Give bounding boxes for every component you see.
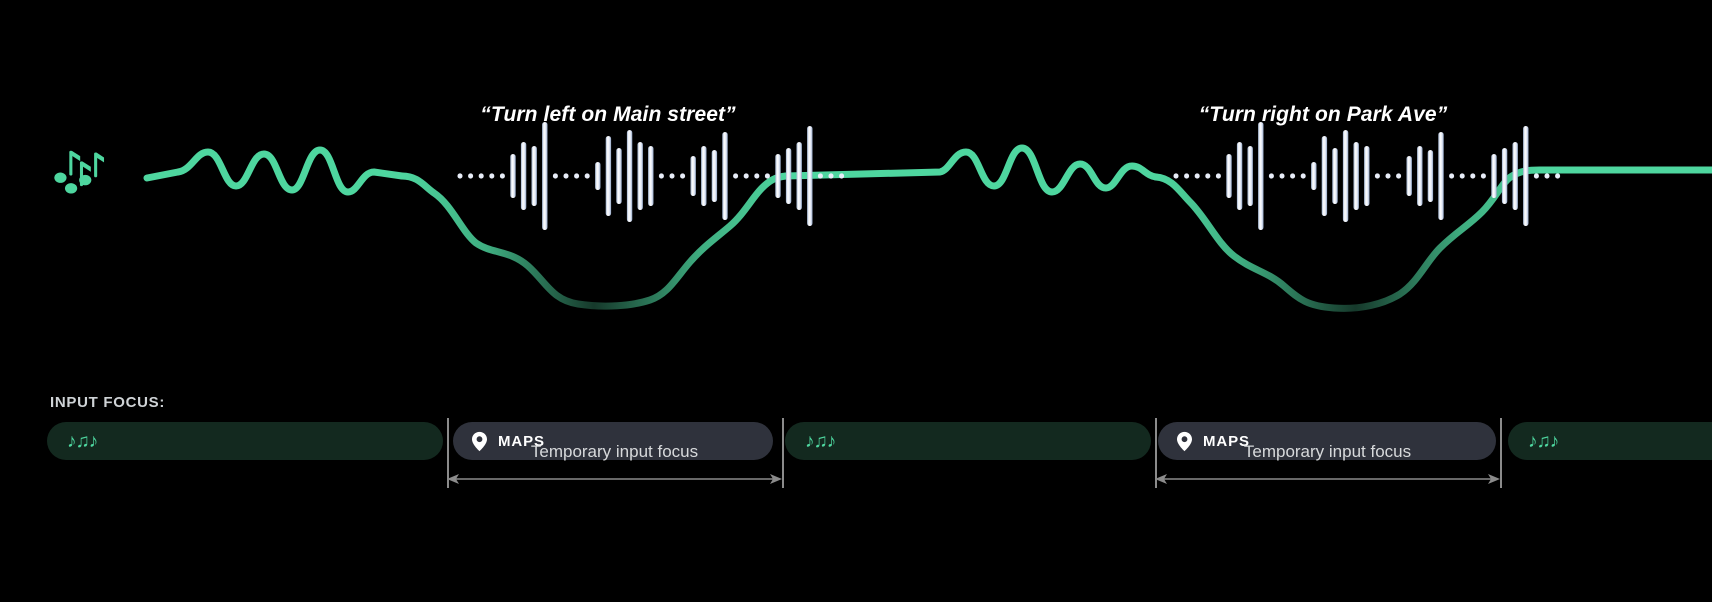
voice-bar [807, 126, 812, 226]
voice-bar-dot [1301, 173, 1306, 178]
music-line-dip-1 [402, 176, 786, 306]
voice-bar [1407, 156, 1412, 196]
focus-span-double-arrow [447, 472, 782, 486]
voice-bar [1248, 146, 1253, 206]
voice-bar [1491, 154, 1496, 198]
voice-bar [786, 148, 791, 204]
voice-bar [627, 130, 632, 222]
voice-bar-dot [818, 173, 823, 178]
voice-bar [1322, 136, 1327, 216]
music-notes-icon [54, 151, 104, 194]
voice-bar [1438, 132, 1443, 220]
input-focus-timeline: INPUT FOCUS: ♪♫♪MAPS♪♫♪MAPS♪♫♪ Temporary… [0, 360, 1712, 602]
signal-visualization: “Turn left on Main street” “Turn right o… [0, 0, 1712, 360]
track-music-3[interactable]: ♪♫♪ [1508, 422, 1712, 460]
voice-bar [1226, 154, 1231, 198]
voice-bar [542, 122, 547, 230]
utterance-caption-right: “Turn right on Park Ave” [0, 103, 1712, 127]
voice-bar [1332, 148, 1337, 204]
voice-bar [1428, 150, 1433, 202]
focus-boundary-divider [1500, 418, 1502, 488]
voice-bar-dot [479, 173, 484, 178]
voice-bar-group [458, 122, 1561, 230]
voice-bar-dot [680, 173, 685, 178]
voice-bar-dot [1290, 173, 1295, 178]
voice-bar-dot [1174, 173, 1179, 178]
focus-boundary-divider [782, 418, 784, 488]
voice-bar-dot [1269, 173, 1274, 178]
voice-bar-dot [1470, 173, 1475, 178]
music-line-segment-1 [147, 150, 402, 192]
music-line-segment-2 [786, 148, 1156, 192]
temporary-input-focus-label: Temporary input focus [1155, 442, 1500, 462]
voice-bar [1417, 146, 1422, 206]
voice-bar [797, 142, 802, 210]
voice-bar-dot [829, 173, 834, 178]
voice-bar-dot [574, 173, 579, 178]
voice-bar [1502, 148, 1507, 204]
voice-bar-dot [585, 173, 590, 178]
voice-bar-dot [670, 173, 675, 178]
music-notes-icon: ♪♫♪ [1528, 432, 1558, 451]
voice-bar [1311, 162, 1316, 190]
voice-bar-dot [1205, 173, 1210, 178]
voice-bar-dot [839, 173, 844, 178]
focus-span-double-arrow [1155, 472, 1500, 486]
voice-bar-dot [1396, 173, 1401, 178]
voice-bar-dot [468, 173, 473, 178]
temporary-input-focus-label: Temporary input focus [447, 442, 782, 462]
music-and-voice-waveform [0, 0, 1712, 360]
voice-bar [775, 154, 780, 198]
voice-bar-dot [733, 173, 738, 178]
voice-bar-dot [1184, 173, 1189, 178]
voice-bar [638, 142, 643, 210]
voice-bar [1258, 122, 1263, 230]
input-focus-label: INPUT FOCUS: [50, 394, 165, 411]
music-notes-icon: ♪♫♪ [805, 432, 835, 451]
voice-bar [1364, 146, 1369, 206]
voice-bar-dot [1449, 173, 1454, 178]
voice-bar-dot [1386, 173, 1391, 178]
voice-bar-dot [553, 173, 558, 178]
voice-bar [1523, 126, 1528, 226]
voice-bar-dot [659, 173, 664, 178]
voice-bar-dot [1555, 173, 1560, 178]
voice-bar [595, 162, 600, 190]
voice-bar-dot [489, 173, 494, 178]
voice-bar [1237, 142, 1242, 210]
track-music-2[interactable]: ♪♫♪ [785, 422, 1151, 460]
screenshot-root: “Turn left on Main street” “Turn right o… [0, 0, 1712, 602]
voice-bar-dot [1460, 173, 1465, 178]
voice-bar [521, 142, 526, 210]
voice-bar [648, 146, 653, 206]
voice-bar-dot [1216, 173, 1221, 178]
music-notes-icon: ♪♫♪ [67, 432, 97, 451]
voice-bar-dot [765, 173, 770, 178]
voice-bar-dot [744, 173, 749, 178]
track-music-1[interactable]: ♪♫♪ [47, 422, 443, 460]
voice-bar-dot [1534, 173, 1539, 178]
voice-bar-dot [500, 173, 505, 178]
voice-bar [1354, 142, 1359, 210]
voice-bar [616, 148, 621, 204]
voice-bar [712, 150, 717, 202]
voice-bar [606, 136, 611, 216]
voice-bar-dot [1375, 173, 1380, 178]
voice-bar [1343, 130, 1348, 222]
voice-bar-dot [458, 173, 463, 178]
voice-bar [1513, 142, 1518, 210]
voice-bar [722, 132, 727, 220]
voice-bar-dot [754, 173, 759, 178]
voice-bar [691, 156, 696, 196]
voice-bar-dot [1481, 173, 1486, 178]
voice-bar-dot [564, 173, 569, 178]
voice-bar [532, 146, 537, 206]
voice-bar [701, 146, 706, 206]
voice-bar [510, 154, 515, 198]
voice-bar-dot [1280, 173, 1285, 178]
voice-bar-dot [1545, 173, 1550, 178]
voice-bar-dot [1195, 173, 1200, 178]
